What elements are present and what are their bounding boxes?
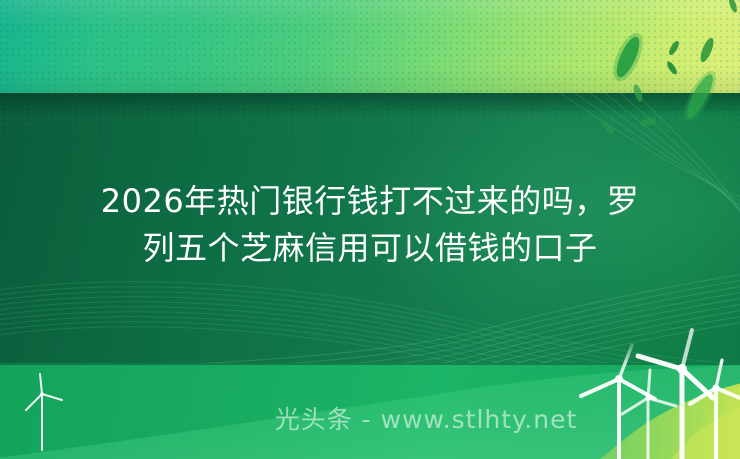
poster-title: 2026年热门银行钱打不过来的吗，罗 列五个芝麻信用可以借钱的口子 <box>0 178 740 272</box>
title-line-2: 列五个芝麻信用可以借钱的口子 <box>0 225 740 272</box>
watermark-text: 光头条 - www.stlhty.net <box>0 405 740 435</box>
title-line-1: 2026年热门银行钱打不过来的吗，罗 <box>0 178 740 225</box>
poster-canvas: 2026年热门银行钱打不过来的吗，罗 列五个芝麻信用可以借钱的口子 光头条 - … <box>0 0 740 459</box>
